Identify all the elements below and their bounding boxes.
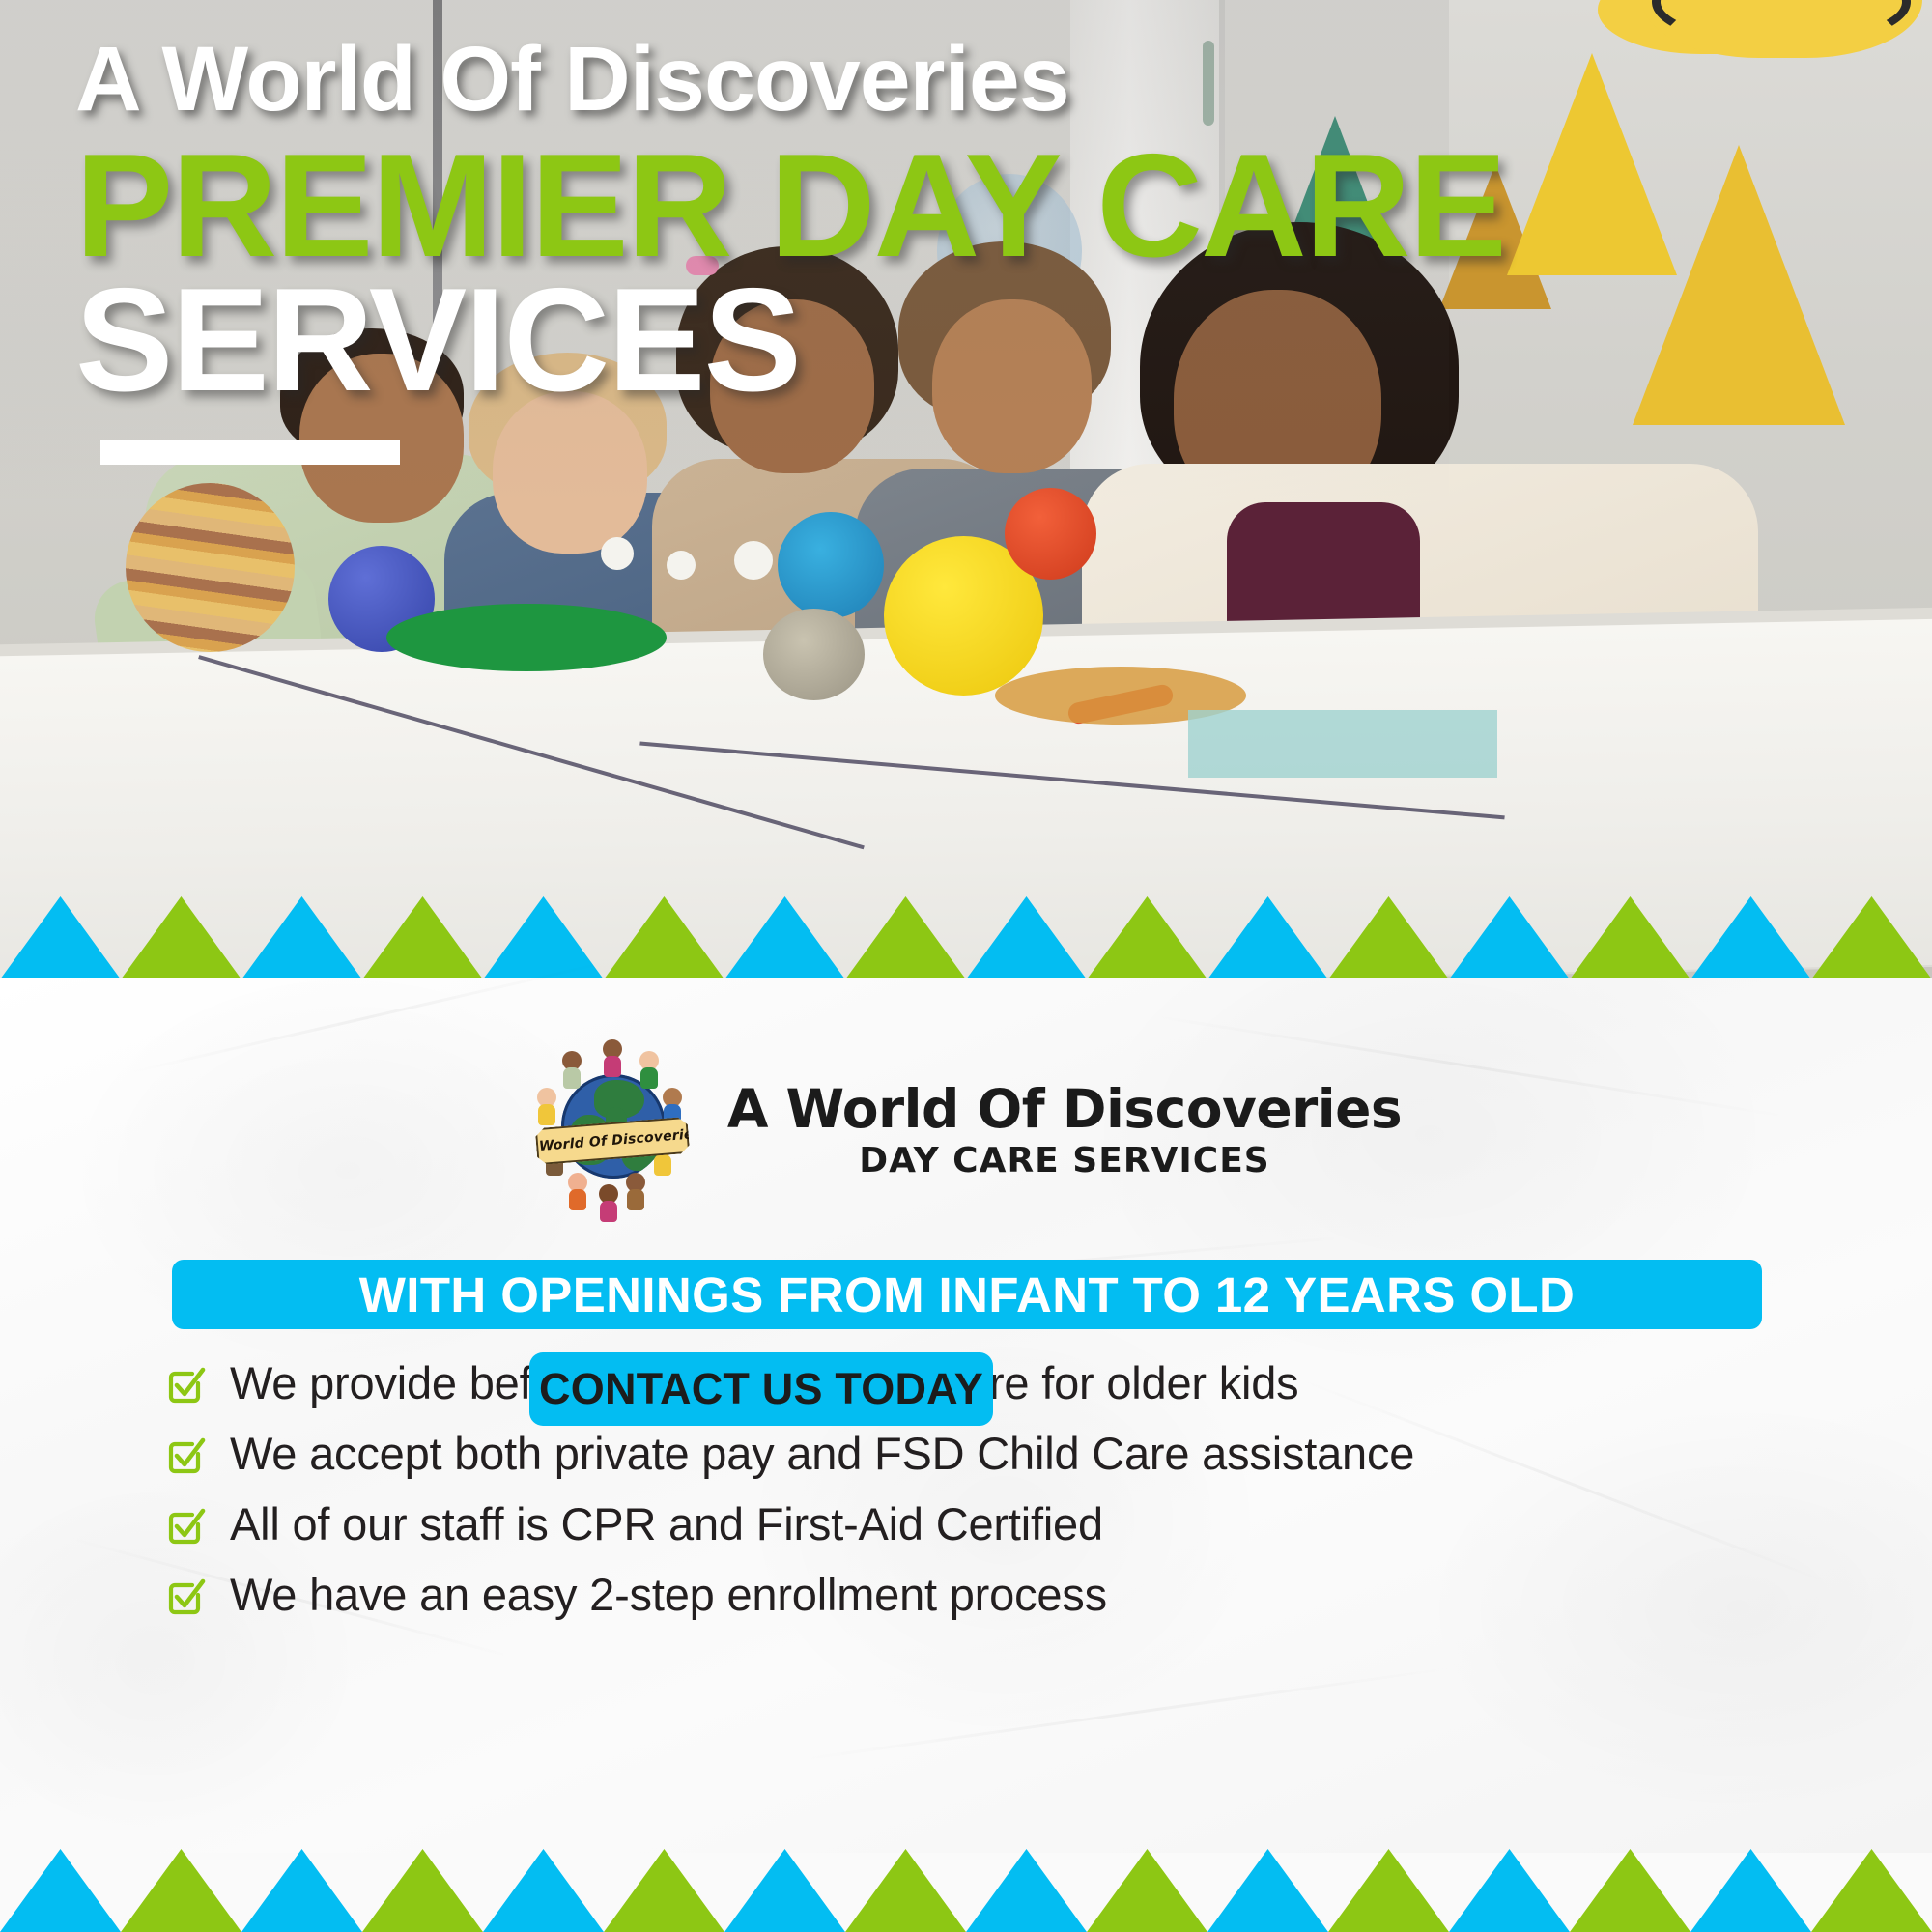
zigzag-triangle bbox=[845, 1849, 966, 1932]
list-item-label: All of our staff is CPR and First-Aid Ce… bbox=[230, 1501, 1103, 1547]
zigzag-triangle bbox=[0, 896, 121, 980]
headline-line-2: PREMIER DAY CARE bbox=[75, 134, 1891, 278]
paper-crease-6 bbox=[795, 1664, 1465, 1761]
brand-logo: A World Of Discoveries A World Of Discov… bbox=[0, 1037, 1932, 1231]
zigzag-triangle bbox=[241, 896, 362, 980]
children-around-globe-logo-icon: A World Of Discoveries bbox=[530, 1037, 695, 1231]
list-item-label: We accept both private pay and FSD Child… bbox=[230, 1431, 1414, 1476]
headline-underline-rule bbox=[100, 440, 400, 465]
hero-photo: A World Of Discoveries PREMIER DAY CARE … bbox=[0, 0, 1932, 980]
zigzag-triangle bbox=[1570, 896, 1690, 980]
zigzag-triangle bbox=[724, 1849, 845, 1932]
zigzag-triangle bbox=[362, 896, 483, 980]
check-box-icon bbox=[166, 1367, 205, 1406]
logo-child-w bbox=[534, 1088, 559, 1128]
list-item-label: We have an easy 2-step enrollment proces… bbox=[230, 1572, 1107, 1617]
openings-banner-text: WITH OPENINGS FROM INFANT TO 12 YEARS OL… bbox=[359, 1266, 1575, 1323]
logo-child-nw bbox=[559, 1051, 584, 1092]
zigzag-triangle bbox=[1811, 896, 1932, 980]
zigzag-top-svg bbox=[0, 896, 1932, 980]
green-paper-cutout bbox=[386, 604, 667, 671]
list-item: We have an easy 2-step enrollment proces… bbox=[166, 1572, 1808, 1617]
zigzag-triangle bbox=[483, 896, 604, 980]
zigzag-triangle bbox=[1570, 1849, 1690, 1932]
list-item: All of our staff is CPR and First-Aid Ce… bbox=[166, 1501, 1808, 1547]
logo-ribbon-text: A World Of Discoveries bbox=[523, 1126, 701, 1155]
poster-root: A World Of Discoveries PREMIER DAY CARE … bbox=[0, 0, 1932, 1932]
zigzag-triangle bbox=[1328, 1849, 1449, 1932]
check-box-glyph bbox=[166, 1367, 205, 1406]
zigzag-triangle bbox=[845, 896, 966, 980]
zigzag-triangle bbox=[604, 1849, 724, 1932]
planet-mars bbox=[1005, 488, 1096, 580]
zigzag-triangle bbox=[1087, 896, 1207, 980]
zigzag-triangle bbox=[1690, 896, 1811, 980]
zigzag-bottom-svg bbox=[0, 1849, 1932, 1932]
zigzag-triangle bbox=[241, 1849, 362, 1932]
headline-line-3: SERVICES bbox=[75, 269, 1891, 412]
zigzag-triangle bbox=[1449, 896, 1570, 980]
zigzag-triangle bbox=[483, 1849, 604, 1932]
zigzag-triangle bbox=[604, 896, 724, 980]
logo-child-ne bbox=[637, 1051, 662, 1092]
list-item: We accept both private pay and FSD Child… bbox=[166, 1431, 1808, 1476]
zigzag-divider-bottom bbox=[0, 1849, 1932, 1932]
model-ball-small-1 bbox=[601, 537, 634, 570]
zigzag-triangle bbox=[1690, 1849, 1811, 1932]
check-box-icon bbox=[166, 1578, 205, 1617]
check-box-glyph bbox=[166, 1508, 205, 1547]
logo-child-n bbox=[600, 1039, 625, 1080]
zigzag-triangle bbox=[966, 1849, 1087, 1932]
model-ball-small-2 bbox=[734, 541, 773, 580]
headline-line-1: A World Of Discoveries bbox=[75, 33, 1891, 127]
zigzag-triangle bbox=[1207, 1849, 1328, 1932]
check-box-icon bbox=[166, 1508, 205, 1547]
craft-paper-teal bbox=[1188, 710, 1497, 778]
zigzag-triangle bbox=[1207, 896, 1328, 980]
check-box-glyph bbox=[166, 1437, 205, 1476]
zigzag-triangle bbox=[1449, 1849, 1570, 1932]
contact-us-button-label: CONTACT US TODAY bbox=[539, 1364, 983, 1414]
zigzag-divider-top bbox=[0, 896, 1932, 980]
zigzag-triangle bbox=[362, 1849, 483, 1932]
zigzag-triangle bbox=[121, 896, 241, 980]
logo-child-sw bbox=[565, 1173, 590, 1213]
headline-block: A World Of Discoveries PREMIER DAY CARE … bbox=[75, 33, 1891, 465]
contact-us-button[interactable]: CONTACT US TODAY bbox=[529, 1352, 993, 1426]
brand-name: A World Of Discoveries bbox=[727, 1082, 1402, 1136]
zigzag-triangle bbox=[1811, 1849, 1932, 1932]
zigzag-triangle bbox=[0, 1849, 121, 1932]
zigzag-triangle bbox=[724, 896, 845, 980]
zigzag-triangle bbox=[121, 1849, 241, 1932]
check-box-icon bbox=[166, 1437, 205, 1476]
planet-jupiter bbox=[126, 483, 295, 652]
brand-subtitle: DAY CARE SERVICES bbox=[727, 1141, 1402, 1180]
zigzag-triangle bbox=[1087, 1849, 1207, 1932]
model-ball-small-3 bbox=[667, 551, 696, 580]
planet-moon bbox=[763, 609, 865, 700]
openings-banner: WITH OPENINGS FROM INFANT TO 12 YEARS OL… bbox=[172, 1260, 1762, 1329]
zigzag-triangle bbox=[1328, 896, 1449, 980]
brand-wordmark: A World Of Discoveries DAY CARE SERVICES bbox=[727, 1082, 1402, 1179]
check-box-glyph bbox=[166, 1578, 205, 1617]
logo-child-s2 bbox=[623, 1173, 648, 1213]
logo-child-s bbox=[596, 1184, 621, 1225]
zigzag-triangle bbox=[966, 896, 1087, 980]
